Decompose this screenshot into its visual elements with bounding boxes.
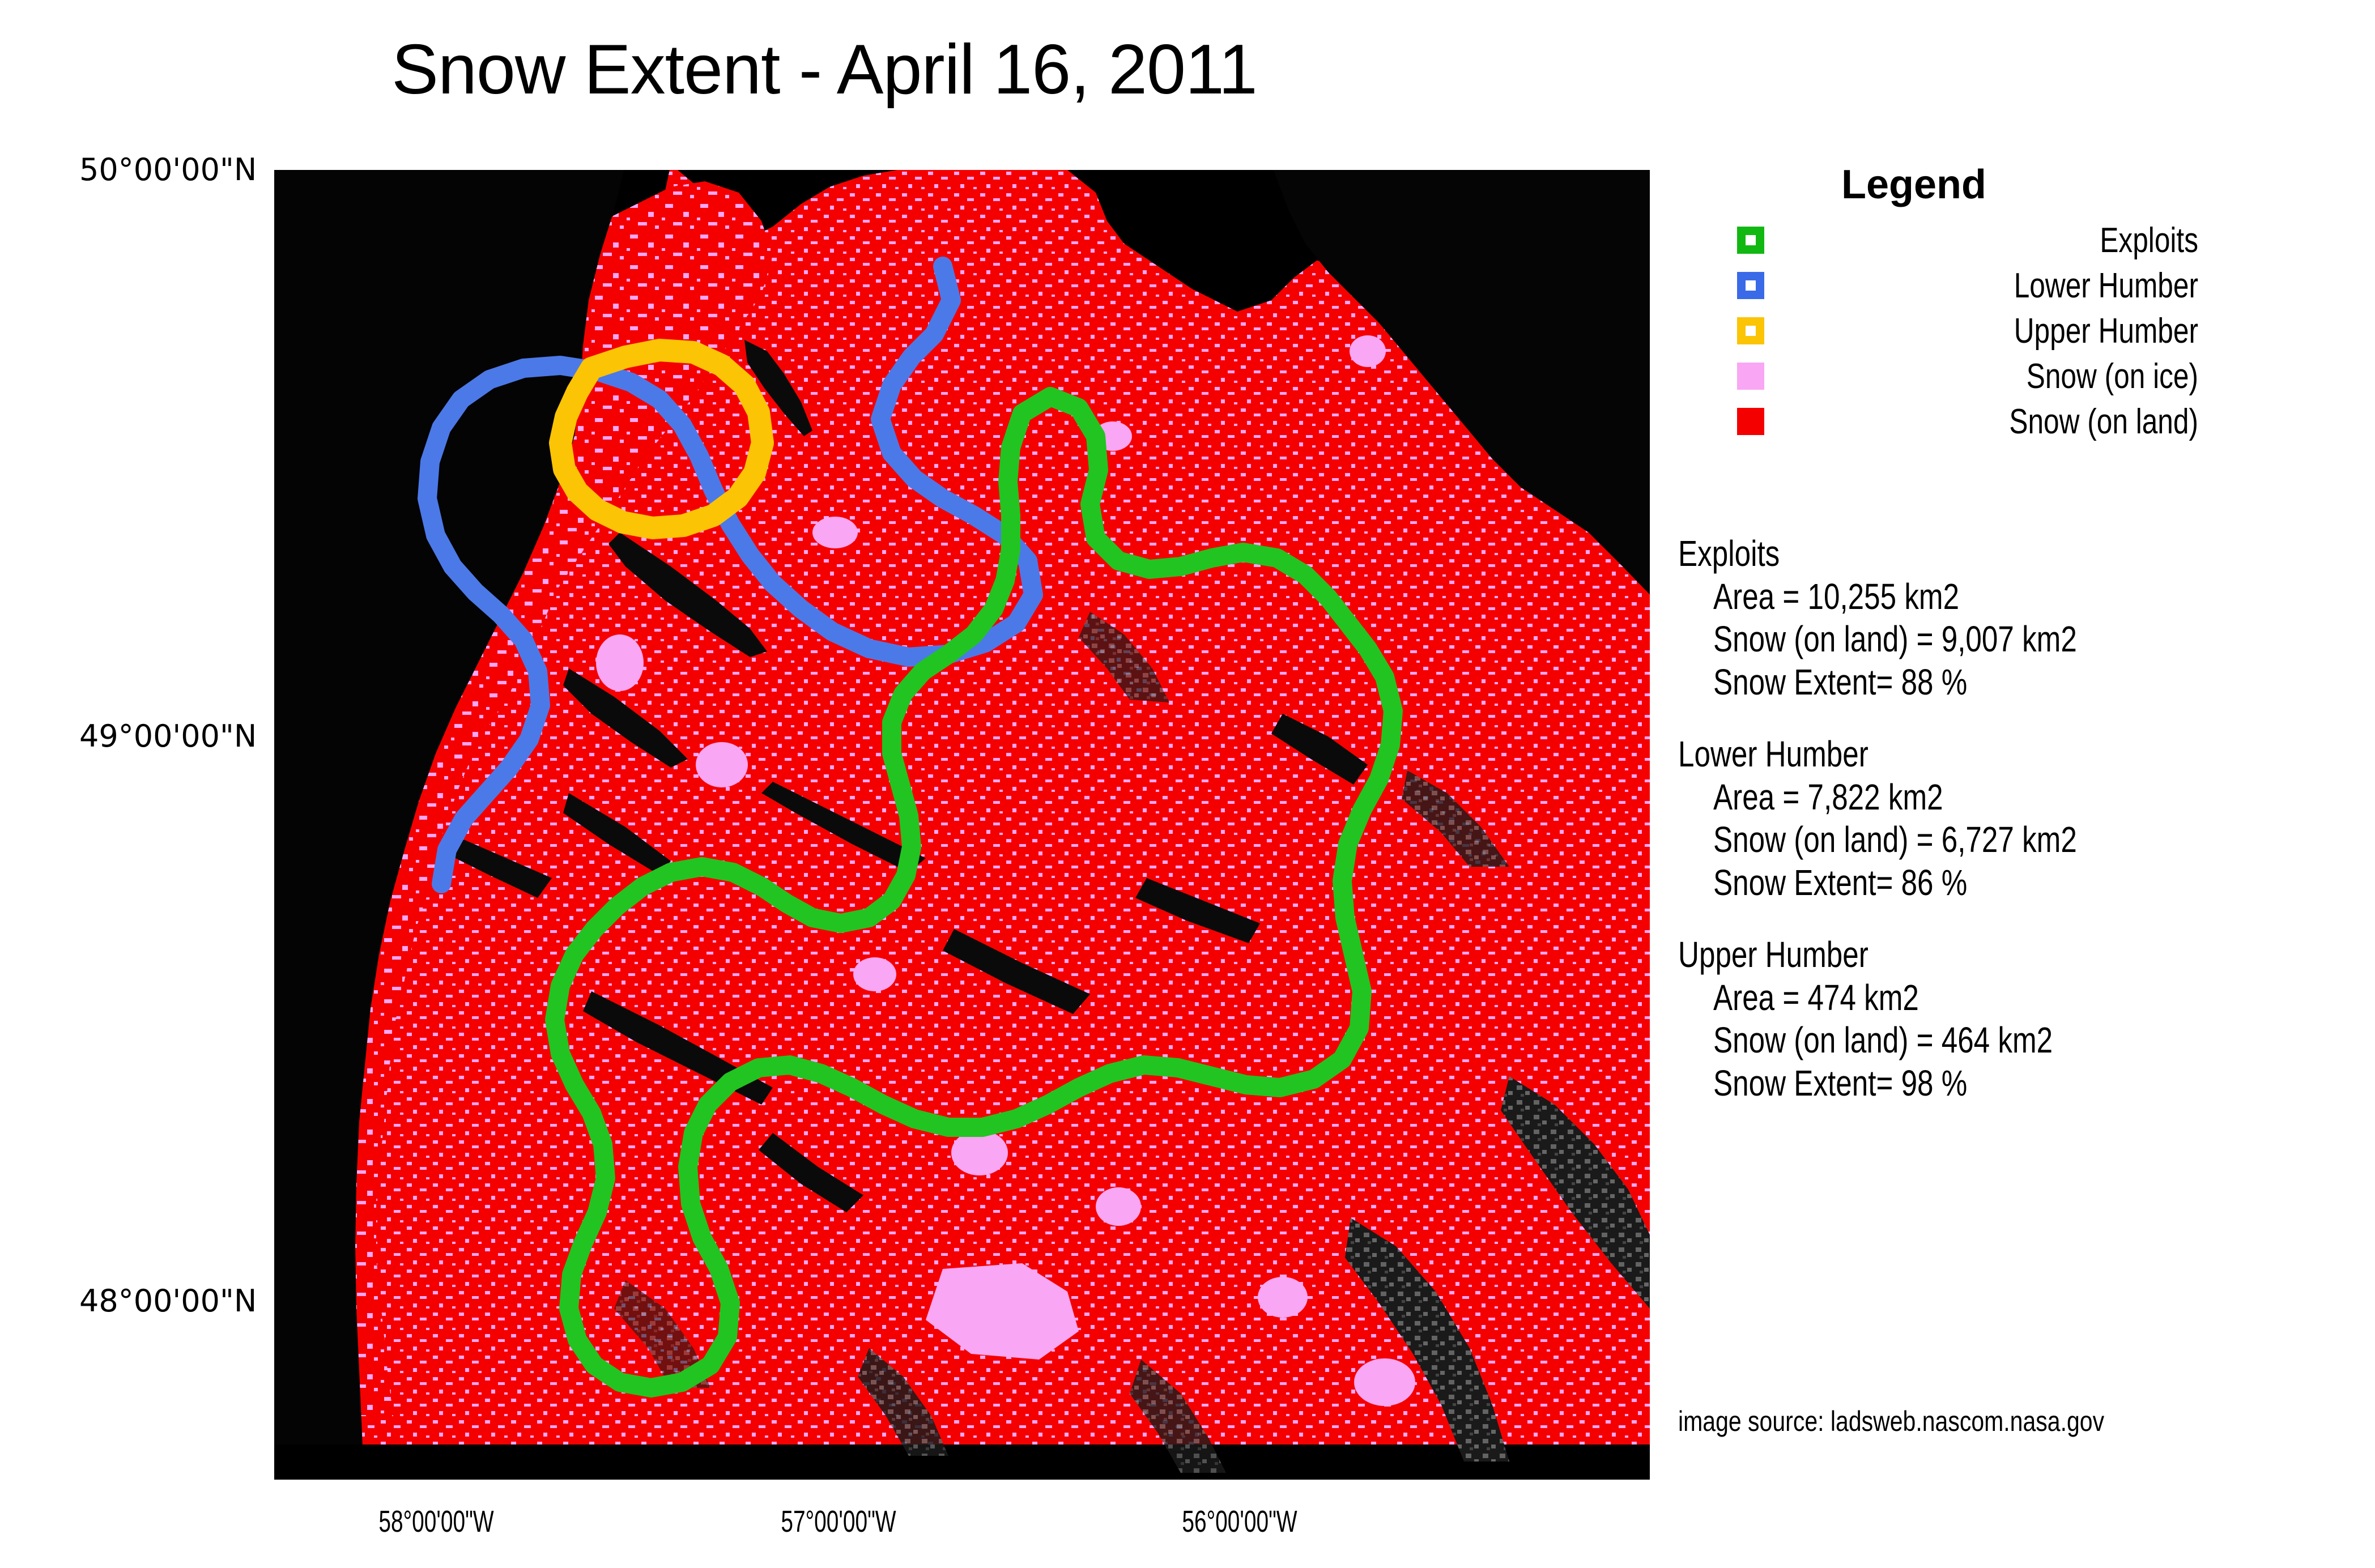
stat-area-exploits: Area = 10,255 km2 <box>1713 576 2220 619</box>
legend-item-lower-humber[interactable]: Lower Humber <box>1722 263 2198 308</box>
snow-extent-raster <box>274 170 1650 1480</box>
stat-snow-extent-exploits: Snow Extent= 88 % <box>1713 661 2220 704</box>
lat-label-50n: 50°00'00"N <box>79 152 249 188</box>
legend-label-exploits: Exploits <box>1818 220 2198 261</box>
yellow-outline-swatch <box>1737 317 1764 344</box>
legend-label-lower-humber: Lower Humber <box>1818 266 2198 306</box>
lat-label-49n: 49°00'00"N <box>79 718 249 754</box>
legend-item-snow-on-ice[interactable]: Snow (on ice) <box>1722 353 2198 399</box>
stat-snow-extent-upper-humber: Snow Extent= 98 % <box>1713 1062 2220 1105</box>
stat-block-upper-humber: Upper Humber Area = 474 km2 Snow (on lan… <box>1678 934 2347 1105</box>
legend-item-exploits[interactable]: Exploits <box>1722 218 2198 263</box>
page-title: Snow Extent - April 16, 2011 <box>0 29 1649 110</box>
ocean-south-strip <box>274 1445 1650 1480</box>
lat-label-48n: 48°00'00"N <box>79 1283 249 1319</box>
stat-snow-extent-lower-humber: Snow Extent= 86 % <box>1713 862 2220 905</box>
stat-snow-on-land-upper-humber: Snow (on land) = 464 km2 <box>1713 1019 2220 1062</box>
legend-item-snow-on-land[interactable]: Snow (on land) <box>1722 399 2198 444</box>
stat-snow-on-land-exploits: Snow (on land) = 9,007 km2 <box>1713 618 2220 661</box>
image-source-note: image source: ladsweb.nascom.nasa.gov <box>1678 1405 2104 1438</box>
stat-name-upper-humber: Upper Humber <box>1678 934 2213 977</box>
lon-label-58w: 58°00'00"W <box>342 1504 530 1539</box>
lon-label-56w: 56°00'00"W <box>1146 1504 1333 1539</box>
stat-block-exploits: Exploits Area = 10,255 km2 Snow (on land… <box>1678 532 2347 704</box>
legend-items: Exploits Lower Humber Upper Humber Snow … <box>1722 218 2198 444</box>
red-solid-swatch <box>1737 408 1764 435</box>
stat-snow-on-land-lower-humber: Snow (on land) = 6,727 km2 <box>1713 819 2220 862</box>
legend-label-upper-humber: Upper Humber <box>1818 311 2198 351</box>
map-canvas[interactable] <box>274 170 1650 1480</box>
blue-outline-swatch <box>1737 272 1764 299</box>
legend-title: Legend <box>1733 164 2095 205</box>
stat-area-lower-humber: Area = 7,822 km2 <box>1713 776 2220 819</box>
statistics-panel: Exploits Area = 10,255 km2 Snow (on land… <box>1678 532 2347 1134</box>
lon-label-57w: 57°00'00"W <box>744 1504 932 1539</box>
legend: Legend Exploits Lower Humber Upper Humbe… <box>1722 164 2210 444</box>
stat-name-lower-humber: Lower Humber <box>1678 733 2213 776</box>
legend-label-snow-on-ice: Snow (on ice) <box>1818 356 2198 397</box>
legend-label-snow-on-land: Snow (on land) <box>1818 402 2198 442</box>
green-outline-swatch <box>1737 227 1764 254</box>
legend-item-upper-humber[interactable]: Upper Humber <box>1722 308 2198 353</box>
pink-solid-swatch <box>1737 363 1764 390</box>
stat-name-exploits: Exploits <box>1678 532 2213 576</box>
stat-block-lower-humber: Lower Humber Area = 7,822 km2 Snow (on l… <box>1678 733 2347 904</box>
stat-area-upper-humber: Area = 474 km2 <box>1713 977 2220 1020</box>
